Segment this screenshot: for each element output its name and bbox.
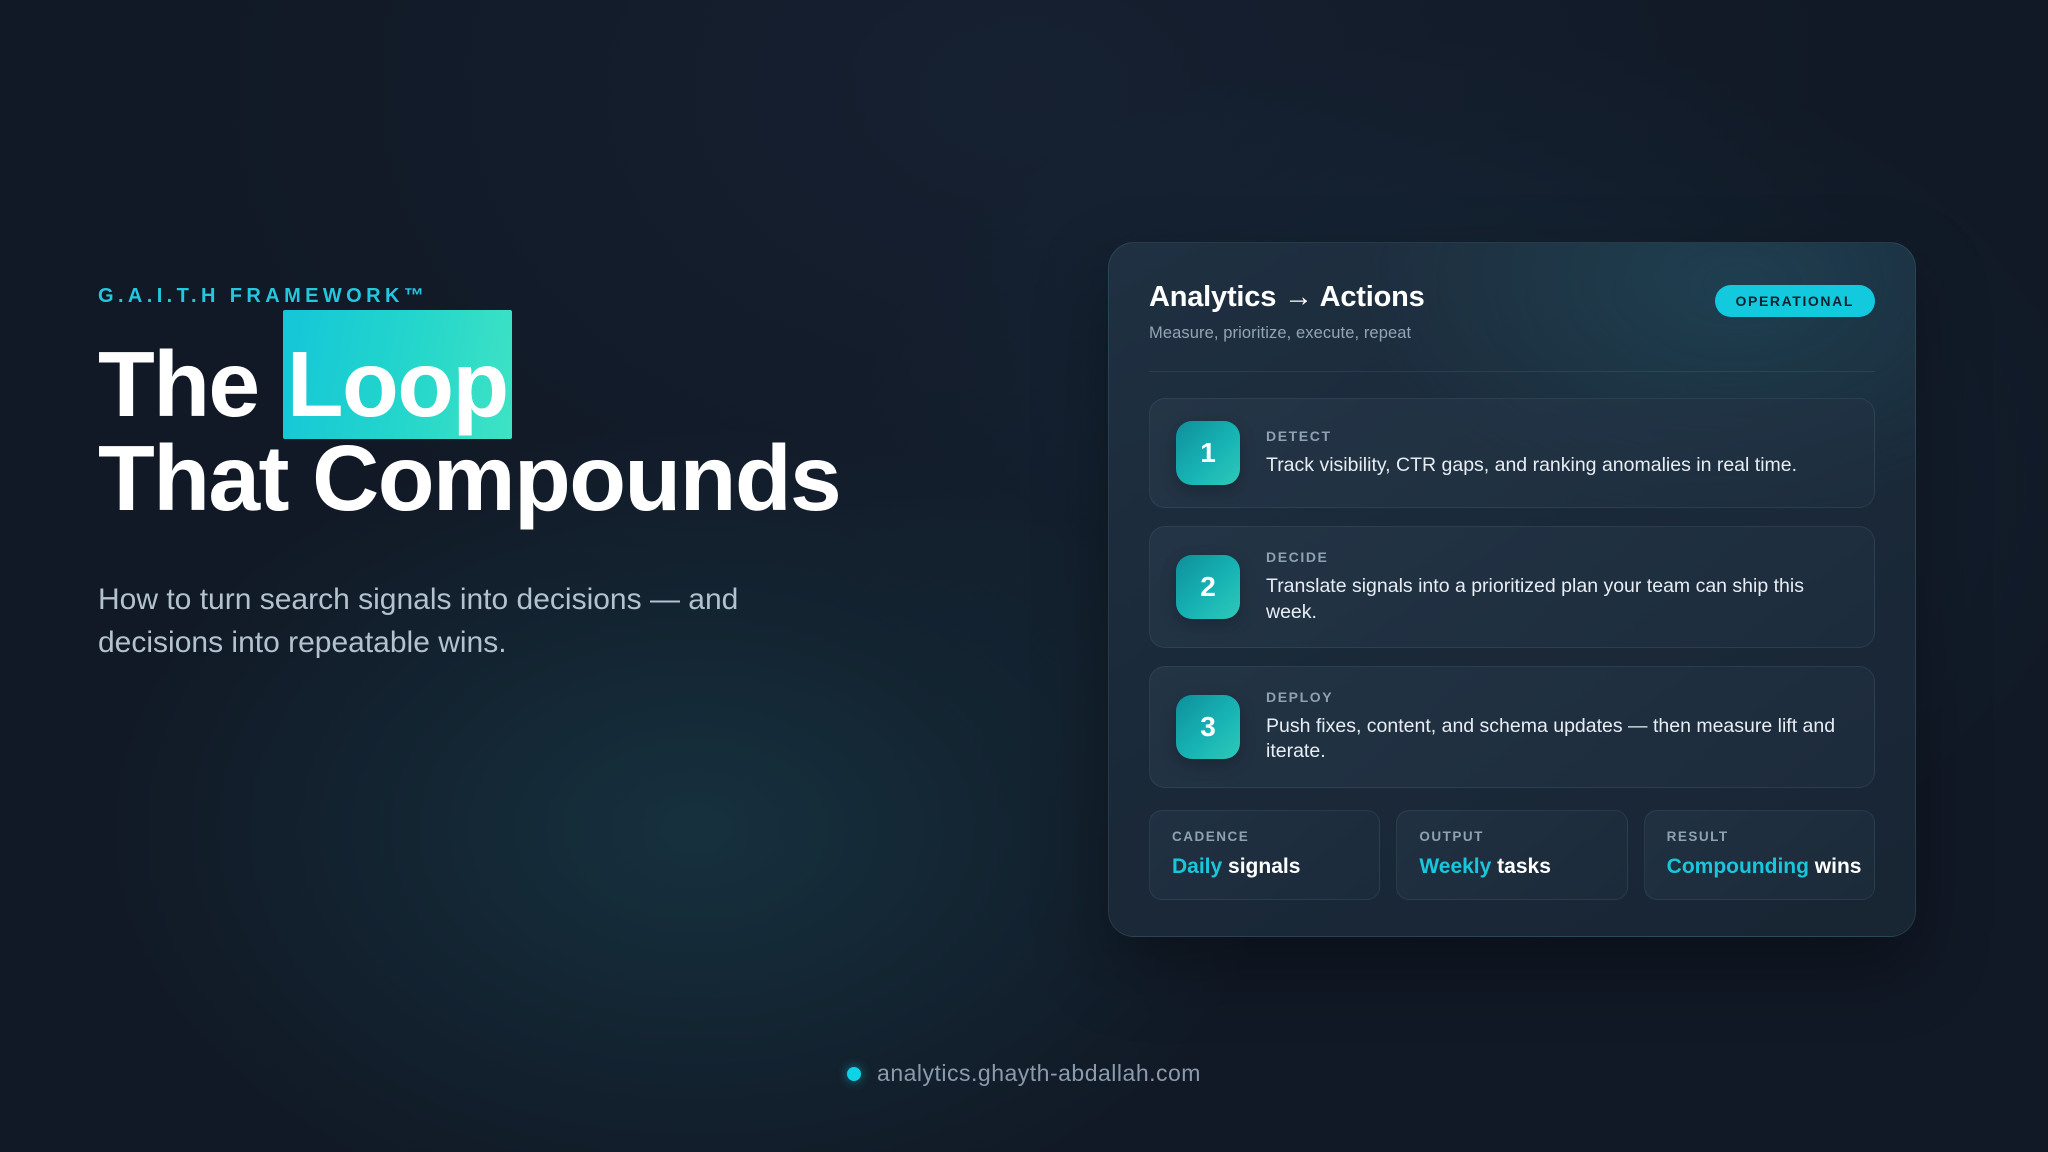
step-description: Translate signals into a prioritized pla… — [1266, 574, 1848, 625]
step-number-badge: 3 — [1176, 695, 1240, 759]
tile-value-rest: signals — [1222, 855, 1300, 878]
headline-prefix: The — [98, 332, 283, 436]
step-content: DEPLOY Push fixes, content, and schema u… — [1266, 689, 1848, 765]
tile-output[interactable]: OUTPUT Weekly tasks — [1396, 810, 1627, 900]
hero-section: G.A.I.T.H FRAMEWORK™ The Loop That Compo… — [98, 286, 838, 664]
tile-value: Compounding wins — [1667, 855, 1852, 879]
list-item[interactable]: 3 DEPLOY Push fixes, content, and schema… — [1149, 666, 1875, 788]
tile-cadence[interactable]: CADENCE Daily signals — [1149, 810, 1380, 900]
step-description: Track visibility, CTR gaps, and ranking … — [1266, 453, 1797, 478]
step-content: DETECT Track visibility, CTR gaps, and r… — [1266, 428, 1797, 478]
tile-value-accent: Weekly — [1419, 855, 1491, 878]
tile-label: OUTPUT — [1419, 829, 1604, 844]
tile-label: RESULT — [1667, 829, 1852, 844]
step-description: Push fixes, content, and schema updates … — [1266, 714, 1848, 765]
status-badge: OPERATIONAL — [1715, 285, 1875, 317]
page-title: The Loop That Compounds — [98, 338, 838, 526]
card-title: Analytics → Actions — [1149, 281, 1425, 314]
tile-value-rest: tasks — [1491, 855, 1551, 878]
footer: analytics.ghayth-abdallah.com — [0, 1060, 2048, 1087]
tile-value-accent: Daily — [1172, 855, 1222, 878]
analytics-card: Analytics → Actions Measure, prioritize,… — [1108, 242, 1916, 937]
tile-result[interactable]: RESULT Compounding wins — [1644, 810, 1875, 900]
step-label: DEPLOY — [1266, 689, 1848, 705]
step-label: DECIDE — [1266, 549, 1848, 565]
status-dot-icon — [847, 1067, 861, 1081]
eyebrow-label: G.A.I.T.H FRAMEWORK™ — [98, 286, 838, 306]
tile-value: Weekly tasks — [1419, 855, 1604, 879]
tile-value-rest: wins — [1809, 855, 1862, 878]
hero-subtitle: How to turn search signals into decision… — [98, 578, 758, 664]
list-item[interactable]: 1 DETECT Track visibility, CTR gaps, and… — [1149, 398, 1875, 508]
tile-value: Daily signals — [1172, 855, 1357, 879]
tile-label: CADENCE — [1172, 829, 1357, 844]
card-header: Analytics → Actions Measure, prioritize,… — [1149, 281, 1875, 372]
headline-line-2: That Compounds — [98, 432, 838, 526]
list-item[interactable]: 2 DECIDE Translate signals into a priori… — [1149, 526, 1875, 648]
headline-highlight: Loop — [283, 338, 512, 432]
step-number-badge: 1 — [1176, 421, 1240, 485]
step-content: DECIDE Translate signals into a prioriti… — [1266, 549, 1848, 625]
steps-list: 1 DETECT Track visibility, CTR gaps, and… — [1149, 398, 1875, 787]
step-label: DETECT — [1266, 428, 1797, 444]
step-number-badge: 2 — [1176, 555, 1240, 619]
card-header-text: Analytics → Actions Measure, prioritize,… — [1149, 281, 1425, 343]
slide-canvas: G.A.I.T.H FRAMEWORK™ The Loop That Compo… — [0, 0, 2048, 1152]
headline-line-1: The Loop — [98, 338, 838, 432]
card-subtitle: Measure, prioritize, execute, repeat — [1149, 324, 1425, 343]
tile-value-accent: Compounding — [1667, 855, 1809, 878]
summary-tiles: CADENCE Daily signals OUTPUT Weekly task… — [1149, 810, 1875, 900]
footer-url[interactable]: analytics.ghayth-abdallah.com — [877, 1060, 1201, 1087]
